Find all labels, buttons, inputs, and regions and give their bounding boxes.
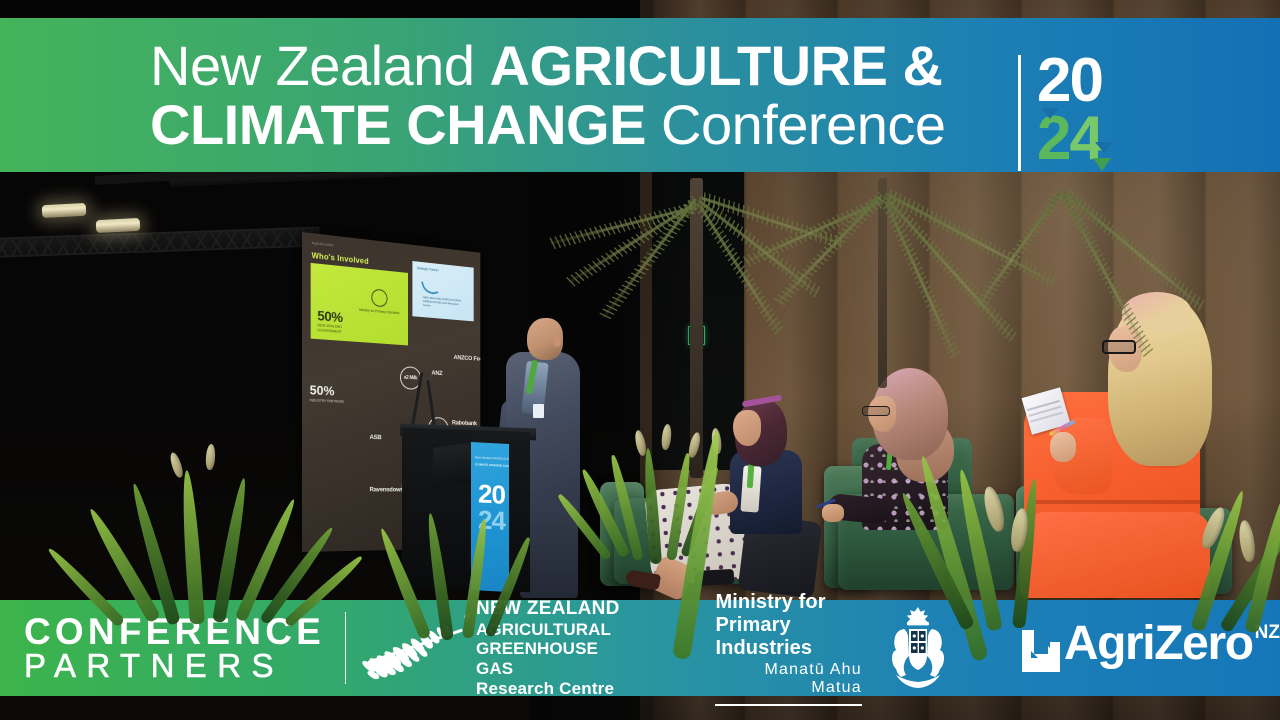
year-numerals: 20 24: [1037, 54, 1147, 172]
slide-nzaggrc-label: NEW ZEALAND AGRICULTURAL GREENHOUSE GAS …: [423, 295, 462, 307]
panelist-three-glasses: [1102, 340, 1136, 354]
agrizero-logo: AgriZero NZ: [1018, 620, 1280, 676]
year-top: 20: [1037, 50, 1102, 112]
speaker-ear: [553, 336, 561, 347]
year-badge: 20 24: [1018, 52, 1147, 174]
title-line2-thin: Conference: [661, 93, 946, 156]
down-right-arrow-icon: [1018, 626, 1062, 676]
panelist-three-dress-tier: [1020, 512, 1210, 598]
panelist-one-face: [733, 410, 761, 446]
panelist-two-glasses: [862, 406, 890, 416]
conference-photo-card: AgriZeroNZ Who's Involved 50% NEW ZEALAN…: [0, 0, 1280, 720]
partner-logo: ANZCO Foods: [454, 354, 481, 363]
partner-logo: Ravensdown: [370, 486, 404, 493]
mpi-logo: Ministry for Primary Industries Manatū A…: [715, 591, 861, 706]
speaker-name-badge: [533, 404, 544, 418]
slide-mpi-logo: Ministry for Primary Industries: [358, 285, 401, 326]
stage-spotlight-icon: [96, 218, 141, 233]
mpi-line1: Ministry for Primary Industries: [715, 591, 861, 660]
nz-coat-of-arms-icon: [882, 605, 954, 691]
slide-second-caption: INDUSTRY PARTNERS: [310, 398, 353, 404]
arrow-notch-icon: [1093, 158, 1111, 171]
slide-brand: AgriZeroNZ: [312, 240, 334, 247]
slide-green-stat-card: 50% NEW ZEALAND GOVERNMENT Ministry for …: [311, 263, 408, 346]
panelist-three-hand: [1050, 432, 1076, 462]
swoosh-icon: [421, 278, 438, 296]
slide-partner-label: Strategic Partner: [417, 266, 439, 272]
slide-nzaggrc-logo: NEW ZEALAND AGRICULTURAL GREENHOUSE GAS …: [423, 279, 467, 311]
slide-second-percent: 50%: [310, 382, 335, 398]
conference-partners-line2: PARTNERS: [24, 650, 325, 682]
panelist-two-hand: [822, 504, 844, 522]
title-line1-bold: AGRICULTURE &: [490, 34, 943, 97]
title-line1-thin: New Zealand: [150, 34, 474, 97]
slide-blue-partner-card: Strategic Partner NEW ZEALAND AGRICULTUR…: [412, 261, 473, 321]
mpi-underline: [715, 704, 861, 706]
mpi-line2: Manatū Ahu Matua: [715, 661, 861, 697]
stage-spotlight-icon: [42, 203, 87, 218]
page-title: New Zealand AGRICULTURE & CLIMATE CHANGE…: [150, 36, 946, 155]
conference-title-banner: New Zealand AGRICULTURE & CLIMATE CHANGE…: [0, 18, 1280, 172]
mpi-seal-icon: [371, 289, 387, 308]
panelist-three-dress-seam: [1032, 500, 1202, 504]
arrow-notch-icon: [1041, 108, 1059, 119]
nzaggrc-line2: AGRICULTURAL GREENHOUSE GAS: [476, 620, 627, 679]
podium-banner-line1: New Zealand AGRICULTURE &: [475, 455, 509, 461]
partner-logo: ASB: [370, 434, 382, 441]
partner-logo: ANZ: [431, 370, 442, 377]
arrow-notch-icon: [1095, 142, 1113, 153]
podium-banner-line2: CLIMATE CHANGE Conference: [475, 462, 509, 468]
title-line2-bold: CLIMATE CHANGE: [150, 93, 646, 156]
slide-green-caption: NEW ZEALAND GOVERNMENT: [317, 323, 360, 335]
nzaggrc-line3: Research Centre: [476, 679, 627, 699]
slide-green-percent: 50%: [317, 307, 342, 325]
footer-divider-rule: [345, 612, 346, 684]
slide-mpi-label: Ministry for Primary Industries: [359, 308, 399, 315]
title-divider-rule: [1018, 55, 1021, 171]
